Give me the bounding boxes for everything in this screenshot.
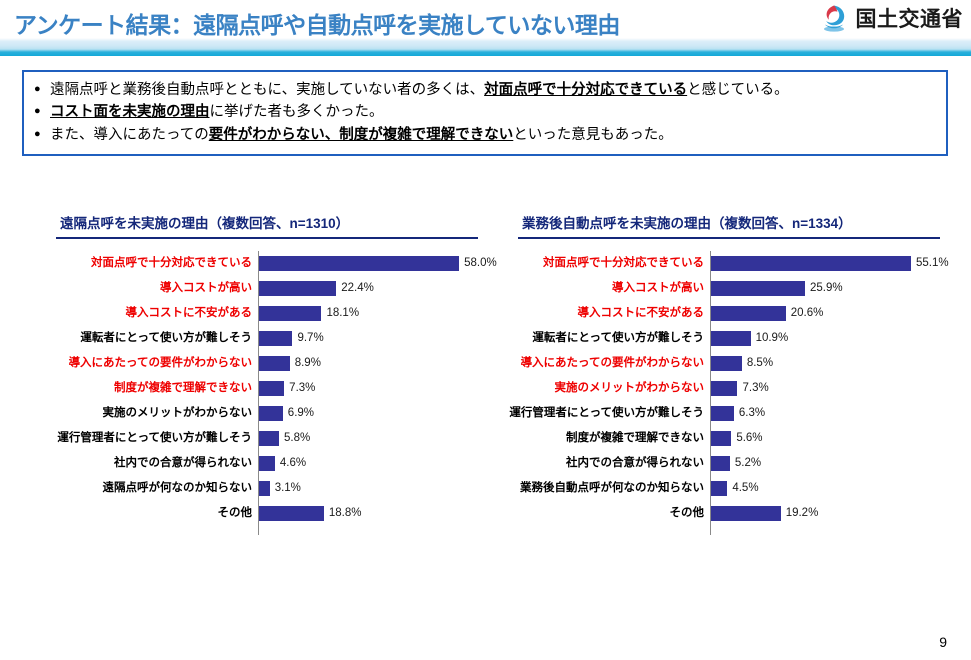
bar-segment bbox=[259, 481, 270, 496]
bar-chart-row: 運行管理者にとって使い方が難しそう6.3% bbox=[480, 401, 950, 426]
bar-value-label: 8.9% bbox=[295, 351, 321, 376]
bar-value-label: 5.2% bbox=[735, 451, 761, 476]
bar-segment bbox=[259, 406, 283, 421]
bar-category-label: 社内での合意が得られない bbox=[114, 451, 252, 476]
bar-value-label: 7.3% bbox=[742, 376, 768, 401]
bar-chart-row: 制度が複雑で理解できない5.6% bbox=[480, 426, 950, 451]
bar-value-label: 6.3% bbox=[739, 401, 765, 426]
bar-chart-row: 業務後自動点呼が何なのか知らない4.5% bbox=[480, 476, 950, 501]
bar-chart-row: 運行管理者にとって使い方が難しそう5.8% bbox=[18, 426, 488, 451]
bar-segment bbox=[711, 381, 737, 396]
bar-value-label: 20.6% bbox=[791, 301, 824, 326]
bar-chart-row: 社内での合意が得られない4.6% bbox=[18, 451, 488, 476]
bar-value-label: 5.6% bbox=[736, 426, 762, 451]
page-title: アンケート結果：遠隔点呼や自動点呼を実施していない理由 bbox=[14, 6, 620, 40]
bar-chart-row: 導入にあたっての要件がわからない8.9% bbox=[18, 351, 488, 376]
bar-category-label: 導入にあたっての要件がわからない bbox=[521, 351, 704, 376]
summary-bullet-3-text: また、導入にあたっての要件がわからない、制度が複雑で理解できないといった意見もあ… bbox=[50, 124, 936, 146]
bar-category-label: 運転者にとって使い方が難しそう bbox=[532, 326, 704, 351]
bar-value-label: 19.2% bbox=[786, 501, 819, 526]
bar-chart-plot: 対面点呼で十分対応できている55.1%導入コストが高い25.9%導入コストに不安… bbox=[480, 251, 950, 541]
page-number: 9 bbox=[939, 634, 947, 650]
bar-chart-row: 運転者にとって使い方が難しそう9.7% bbox=[18, 326, 488, 351]
bar-chart-row: 導入コストに不安がある20.6% bbox=[480, 301, 950, 326]
bullet-1-seg-3: と感じている。 bbox=[687, 82, 789, 98]
chart-title: 業務後自動点呼を未実施の理由（複数回答、n=1334） bbox=[522, 212, 950, 232]
ministry-name: 国土交通省 bbox=[856, 3, 964, 33]
bar-chart-row: 制度が複雑で理解できない7.3% bbox=[18, 376, 488, 401]
bar-value-label: 7.3% bbox=[289, 376, 315, 401]
bar-category-label: 導入コストが高い bbox=[160, 276, 252, 301]
bar-category-label: 運転者にとって使い方が難しそう bbox=[80, 326, 252, 351]
summary-box: ● 遠隔点呼と業務後自動点呼とともに、実施していない者の多くは、対面点呼で十分対… bbox=[22, 70, 948, 156]
bar-segment bbox=[711, 431, 731, 446]
bar-category-label: その他 bbox=[670, 501, 705, 526]
bar-value-label: 8.5% bbox=[747, 351, 773, 376]
bar-value-label: 18.8% bbox=[329, 501, 362, 526]
bar-chart-row: その他18.8% bbox=[18, 501, 488, 526]
bar-chart-row: 社内での合意が得られない5.2% bbox=[480, 451, 950, 476]
bar-chart-row: 導入コストが高い25.9% bbox=[480, 276, 950, 301]
mlit-swirl-logo-icon bbox=[819, 2, 849, 34]
bar-chart-row: 対面点呼で十分対応できている55.1% bbox=[480, 251, 950, 276]
bar-segment bbox=[711, 406, 734, 421]
bar-segment bbox=[259, 331, 292, 346]
bar-category-label: 制度が複雑で理解できない bbox=[114, 376, 252, 401]
bar-chart-plot: 対面点呼で十分対応できている58.0%導入コストが高い22.4%導入コストに不安… bbox=[18, 251, 488, 541]
ministry-logo: 国土交通省 bbox=[819, 2, 964, 34]
bar-segment bbox=[259, 356, 290, 371]
bar-value-label: 55.1% bbox=[916, 251, 949, 276]
bar-segment bbox=[711, 356, 742, 371]
chart-title-rule bbox=[518, 237, 940, 239]
summary-bullet-2-text: コスト面を未実施の理由に挙げた者も多くかった。 bbox=[50, 101, 936, 123]
bar-chart-row: 運転者にとって使い方が難しそう10.9% bbox=[480, 326, 950, 351]
bar-category-label: 導入にあたっての要件がわからない bbox=[69, 351, 252, 376]
bar-category-label: 導入コストに不安がある bbox=[578, 301, 705, 326]
bar-segment bbox=[259, 431, 279, 446]
bar-chart-row: 導入コストに不安がある18.1% bbox=[18, 301, 488, 326]
bar-category-label: 実施のメリットがわからない bbox=[103, 401, 253, 426]
bar-value-label: 3.1% bbox=[275, 476, 301, 501]
bar-value-label: 22.4% bbox=[341, 276, 374, 301]
bar-value-label: 9.7% bbox=[297, 326, 323, 351]
bar-value-label: 25.9% bbox=[810, 276, 843, 301]
bullet-marker-icon: ● bbox=[34, 79, 50, 100]
chart-title-rule bbox=[56, 237, 478, 239]
bar-segment bbox=[259, 381, 284, 396]
summary-bullet-1: ● 遠隔点呼と業務後自動点呼とともに、実施していない者の多くは、対面点呼で十分対… bbox=[34, 79, 936, 101]
chart-title: 遠隔点呼を未実施の理由（複数回答、n=1310） bbox=[60, 212, 488, 232]
bar-category-label: 業務後自動点呼が何なのか知らない bbox=[520, 476, 704, 501]
bar-value-label: 18.1% bbox=[326, 301, 359, 326]
bullet-3-seg-2: 要件がわからない、制度が複雑で理解できない bbox=[209, 127, 514, 143]
bar-value-label: 5.8% bbox=[284, 426, 310, 451]
summary-bullet-3: ● また、導入にあたっての要件がわからない、制度が複雑で理解できないといった意見… bbox=[34, 124, 936, 146]
bar-chart-row: 対面点呼で十分対応できている58.0% bbox=[18, 251, 488, 276]
bar-category-label: 対面点呼で十分対応できている bbox=[543, 251, 704, 276]
chart-panel-remote-roll-call: 遠隔点呼を未実施の理由（複数回答、n=1310） 対面点呼で十分対応できている5… bbox=[18, 212, 488, 541]
bar-segment bbox=[711, 481, 727, 496]
bar-segment bbox=[259, 456, 275, 471]
bar-segment bbox=[711, 281, 805, 296]
bar-chart-row: 実施のメリットがわからない7.3% bbox=[480, 376, 950, 401]
bar-value-label: 10.9% bbox=[756, 326, 789, 351]
bar-chart-row: 導入にあたっての要件がわからない8.5% bbox=[480, 351, 950, 376]
bullet-marker-icon: ● bbox=[34, 124, 50, 145]
bar-value-label: 6.9% bbox=[288, 401, 314, 426]
bar-chart-row: 遠隔点呼が何なのか知らない3.1% bbox=[18, 476, 488, 501]
bar-segment bbox=[259, 306, 321, 321]
bullet-3-seg-1: また、導入にあたっての bbox=[50, 127, 209, 143]
bullet-1-seg-1: 遠隔点呼と業務後自動点呼とともに、実施していない者の多くは、 bbox=[50, 82, 484, 98]
bar-segment bbox=[259, 506, 324, 521]
summary-bullet-1-text: 遠隔点呼と業務後自動点呼とともに、実施していない者の多くは、対面点呼で十分対応で… bbox=[50, 79, 936, 101]
bar-category-label: 制度が複雑で理解できない bbox=[566, 426, 704, 451]
bar-chart-row: 実施のメリットがわからない6.9% bbox=[18, 401, 488, 426]
bar-segment bbox=[711, 256, 911, 271]
summary-bullet-2: ● コスト面を未実施の理由に挙げた者も多くかった。 bbox=[34, 101, 936, 123]
slide-header: アンケート結果：遠隔点呼や自動点呼を実施していない理由 国土交通省 bbox=[0, 0, 971, 56]
bar-category-label: その他 bbox=[218, 501, 253, 526]
charts-area: 遠隔点呼を未実施の理由（複数回答、n=1310） 対面点呼で十分対応できている5… bbox=[0, 212, 971, 572]
bar-category-label: 実施のメリットがわからない bbox=[555, 376, 705, 401]
header-accent-band bbox=[0, 38, 971, 56]
bar-category-label: 社内での合意が得られない bbox=[566, 451, 704, 476]
bar-category-label: 導入コストが高い bbox=[612, 276, 704, 301]
bullet-marker-icon: ● bbox=[34, 101, 50, 122]
bar-segment bbox=[711, 306, 786, 321]
bar-category-label: 運行管理者にとって使い方が難しそう bbox=[57, 426, 252, 451]
chart-panel-post-work-auto-roll-call: 業務後自動点呼を未実施の理由（複数回答、n=1334） 対面点呼で十分対応できて… bbox=[480, 212, 950, 541]
bar-chart-row: 導入コストが高い22.4% bbox=[18, 276, 488, 301]
bullet-2-seg-2: に挙げた者も多くかった。 bbox=[210, 104, 384, 120]
bullet-1-seg-2: 対面点呼で十分対応できている bbox=[484, 82, 687, 98]
bar-segment bbox=[259, 281, 336, 296]
bar-segment bbox=[711, 506, 781, 521]
bar-category-label: 遠隔点呼が何なのか知らない bbox=[103, 476, 253, 501]
bar-category-label: 導入コストに不安がある bbox=[126, 301, 253, 326]
bar-segment bbox=[711, 456, 730, 471]
bar-chart-row: その他19.2% bbox=[480, 501, 950, 526]
bar-segment bbox=[711, 331, 751, 346]
bar-value-label: 4.6% bbox=[280, 451, 306, 476]
bar-category-label: 対面点呼で十分対応できている bbox=[91, 251, 252, 276]
bar-segment bbox=[259, 256, 459, 271]
bullet-2-seg-1: コスト面を未実施の理由 bbox=[50, 104, 210, 120]
bullet-3-seg-3: といった意見もあった。 bbox=[513, 127, 673, 143]
bar-category-label: 運行管理者にとって使い方が難しそう bbox=[509, 401, 704, 426]
bar-value-label: 4.5% bbox=[732, 476, 758, 501]
